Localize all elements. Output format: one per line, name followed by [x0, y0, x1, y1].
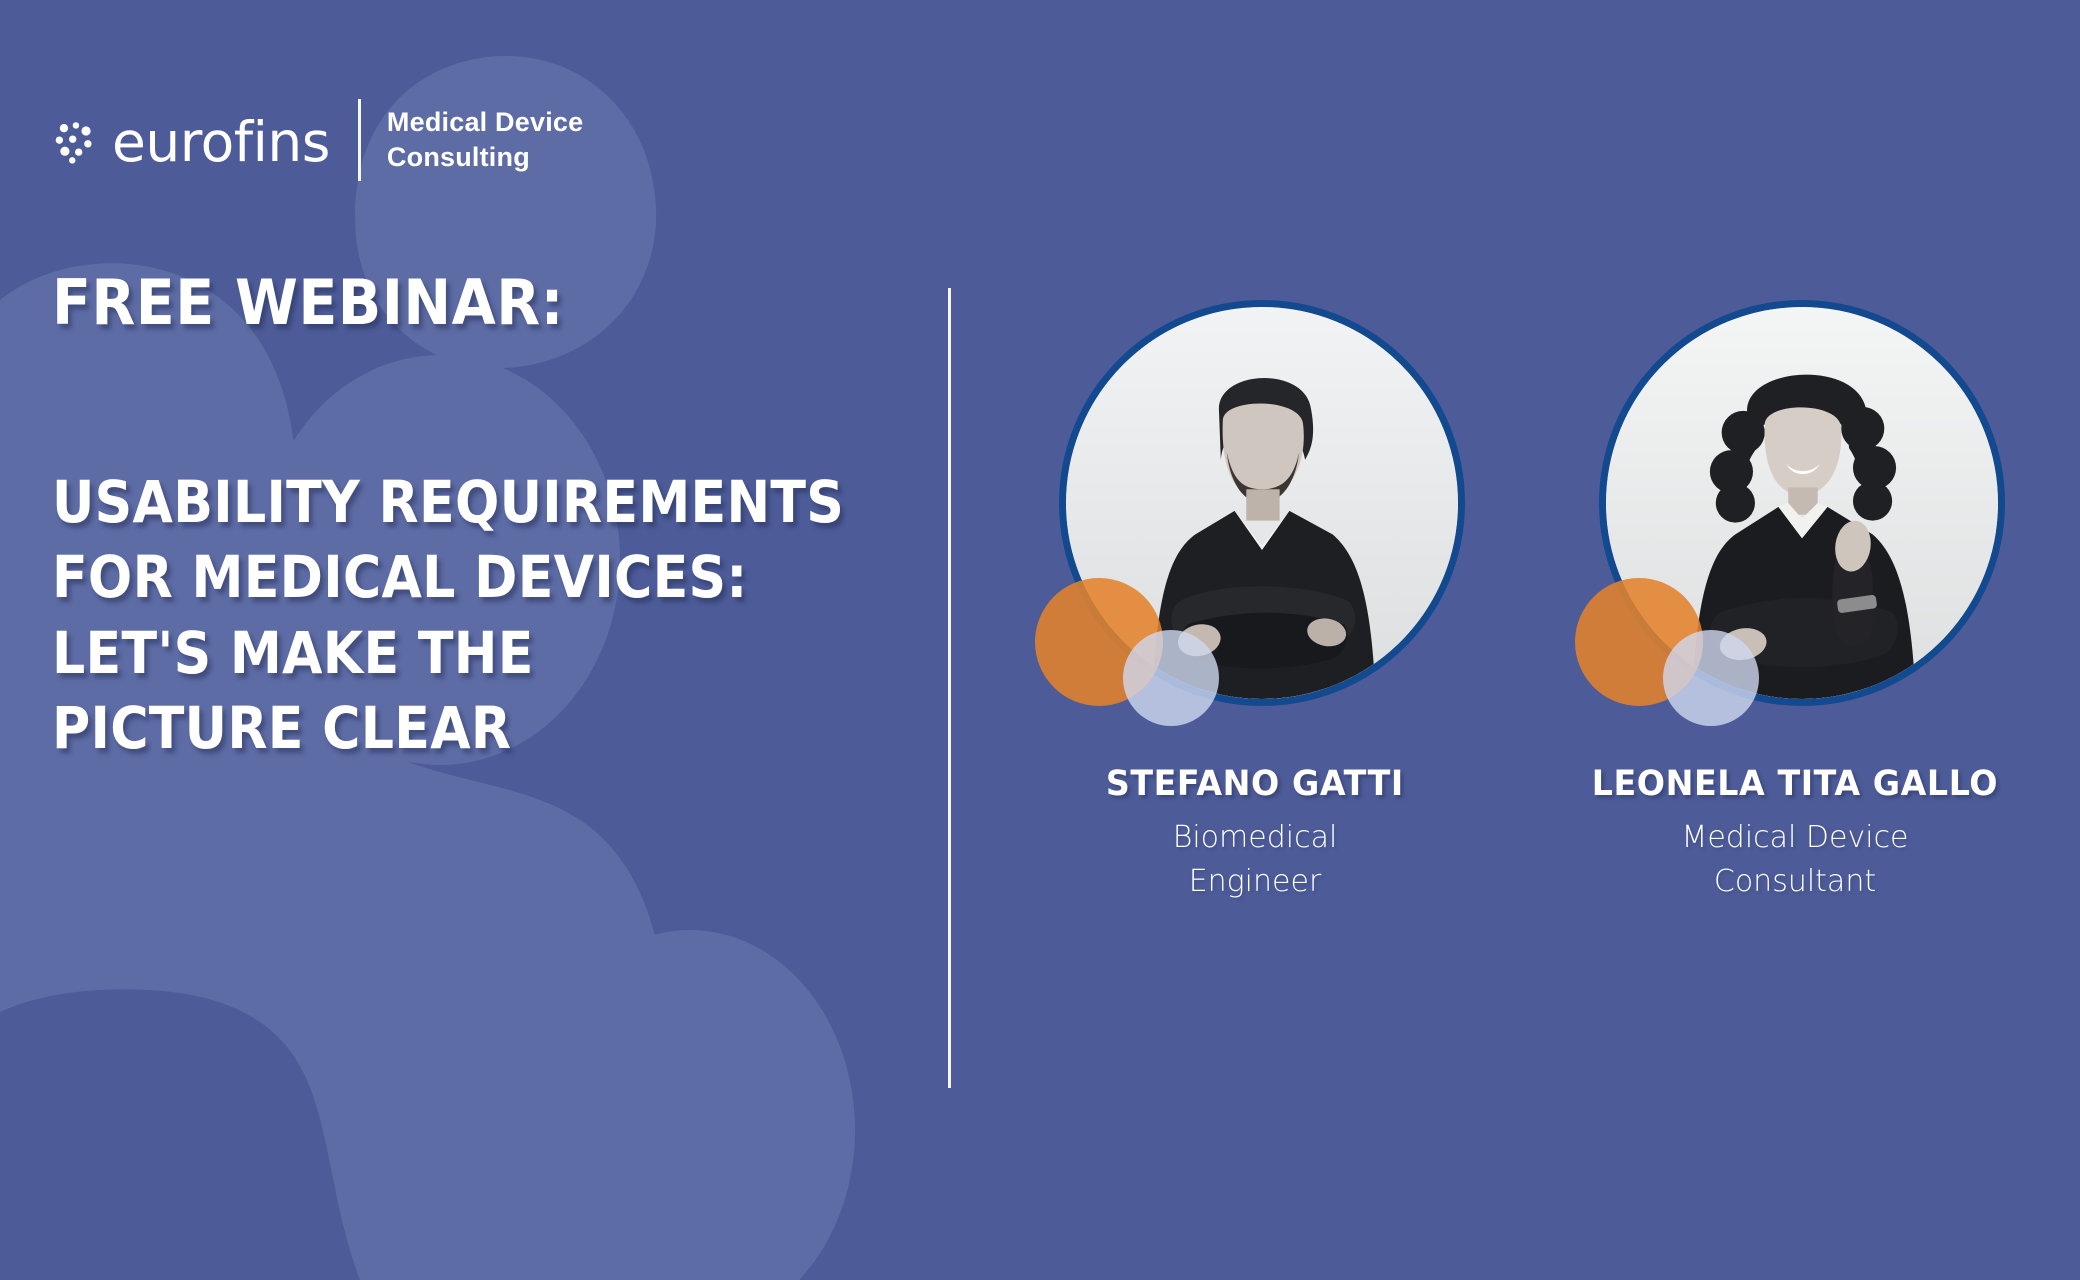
speaker-name: STEFANO GATTI — [1106, 764, 1404, 804]
portrait-wrapper — [1035, 300, 1475, 740]
accent-circle-light-blue — [1663, 630, 1759, 726]
webinar-promo-poster: eurofins Medical Device Consulting FREE … — [0, 0, 2080, 1280]
accent-circle-light-blue — [1123, 630, 1219, 726]
brand-logo: eurofins Medical Device Consulting — [52, 98, 583, 182]
speaker-card: LEONELA TITA GALLO Medical Device Consul… — [1560, 300, 2030, 903]
main-title: USABILITY REQUIREMENTS FOR MEDICAL DEVIC… — [52, 465, 646, 767]
logo-divider — [358, 99, 361, 181]
speakers-section: STEFANO GATTI Biomedical Engineer — [1020, 300, 2030, 903]
main-title-line-3: LET'S MAKE THE — [52, 616, 646, 691]
headline-column: FREE WEBINAR: USABILITY REQUIREMENTS FOR… — [52, 270, 712, 767]
portrait-wrapper — [1575, 300, 2015, 740]
speaker-role: Biomedical Engineer — [1173, 816, 1338, 903]
speaker-role-line-2: Engineer — [1173, 860, 1338, 904]
speaker-card: STEFANO GATTI Biomedical Engineer — [1020, 300, 1490, 903]
speaker-role-line-1: Biomedical — [1173, 816, 1338, 860]
speaker-role-line-1: Medical Device — [1681, 816, 1908, 860]
speaker-role-line-2: Consultant — [1681, 860, 1908, 904]
main-title-line-4: PICTURE CLEAR — [52, 691, 646, 766]
vertical-divider — [948, 288, 951, 1088]
brand-tagline-line-1: Medical Device — [387, 105, 583, 140]
speaker-role: Medical Device Consultant — [1681, 816, 1908, 903]
brand-tagline: Medical Device Consulting — [387, 105, 583, 175]
speaker-name: LEONELA TITA GALLO — [1592, 764, 1998, 804]
brand-tagline-line-2: Consulting — [387, 140, 583, 175]
main-title-line-2: FOR MEDICAL DEVICES: — [52, 540, 646, 615]
brand-wordmark: eurofins — [112, 115, 330, 170]
main-title-line-1: USABILITY REQUIREMENTS — [52, 465, 646, 540]
eyebrow-free-webinar: FREE WEBINAR: — [52, 270, 659, 335]
eurofins-dots-logo-icon — [52, 119, 98, 165]
